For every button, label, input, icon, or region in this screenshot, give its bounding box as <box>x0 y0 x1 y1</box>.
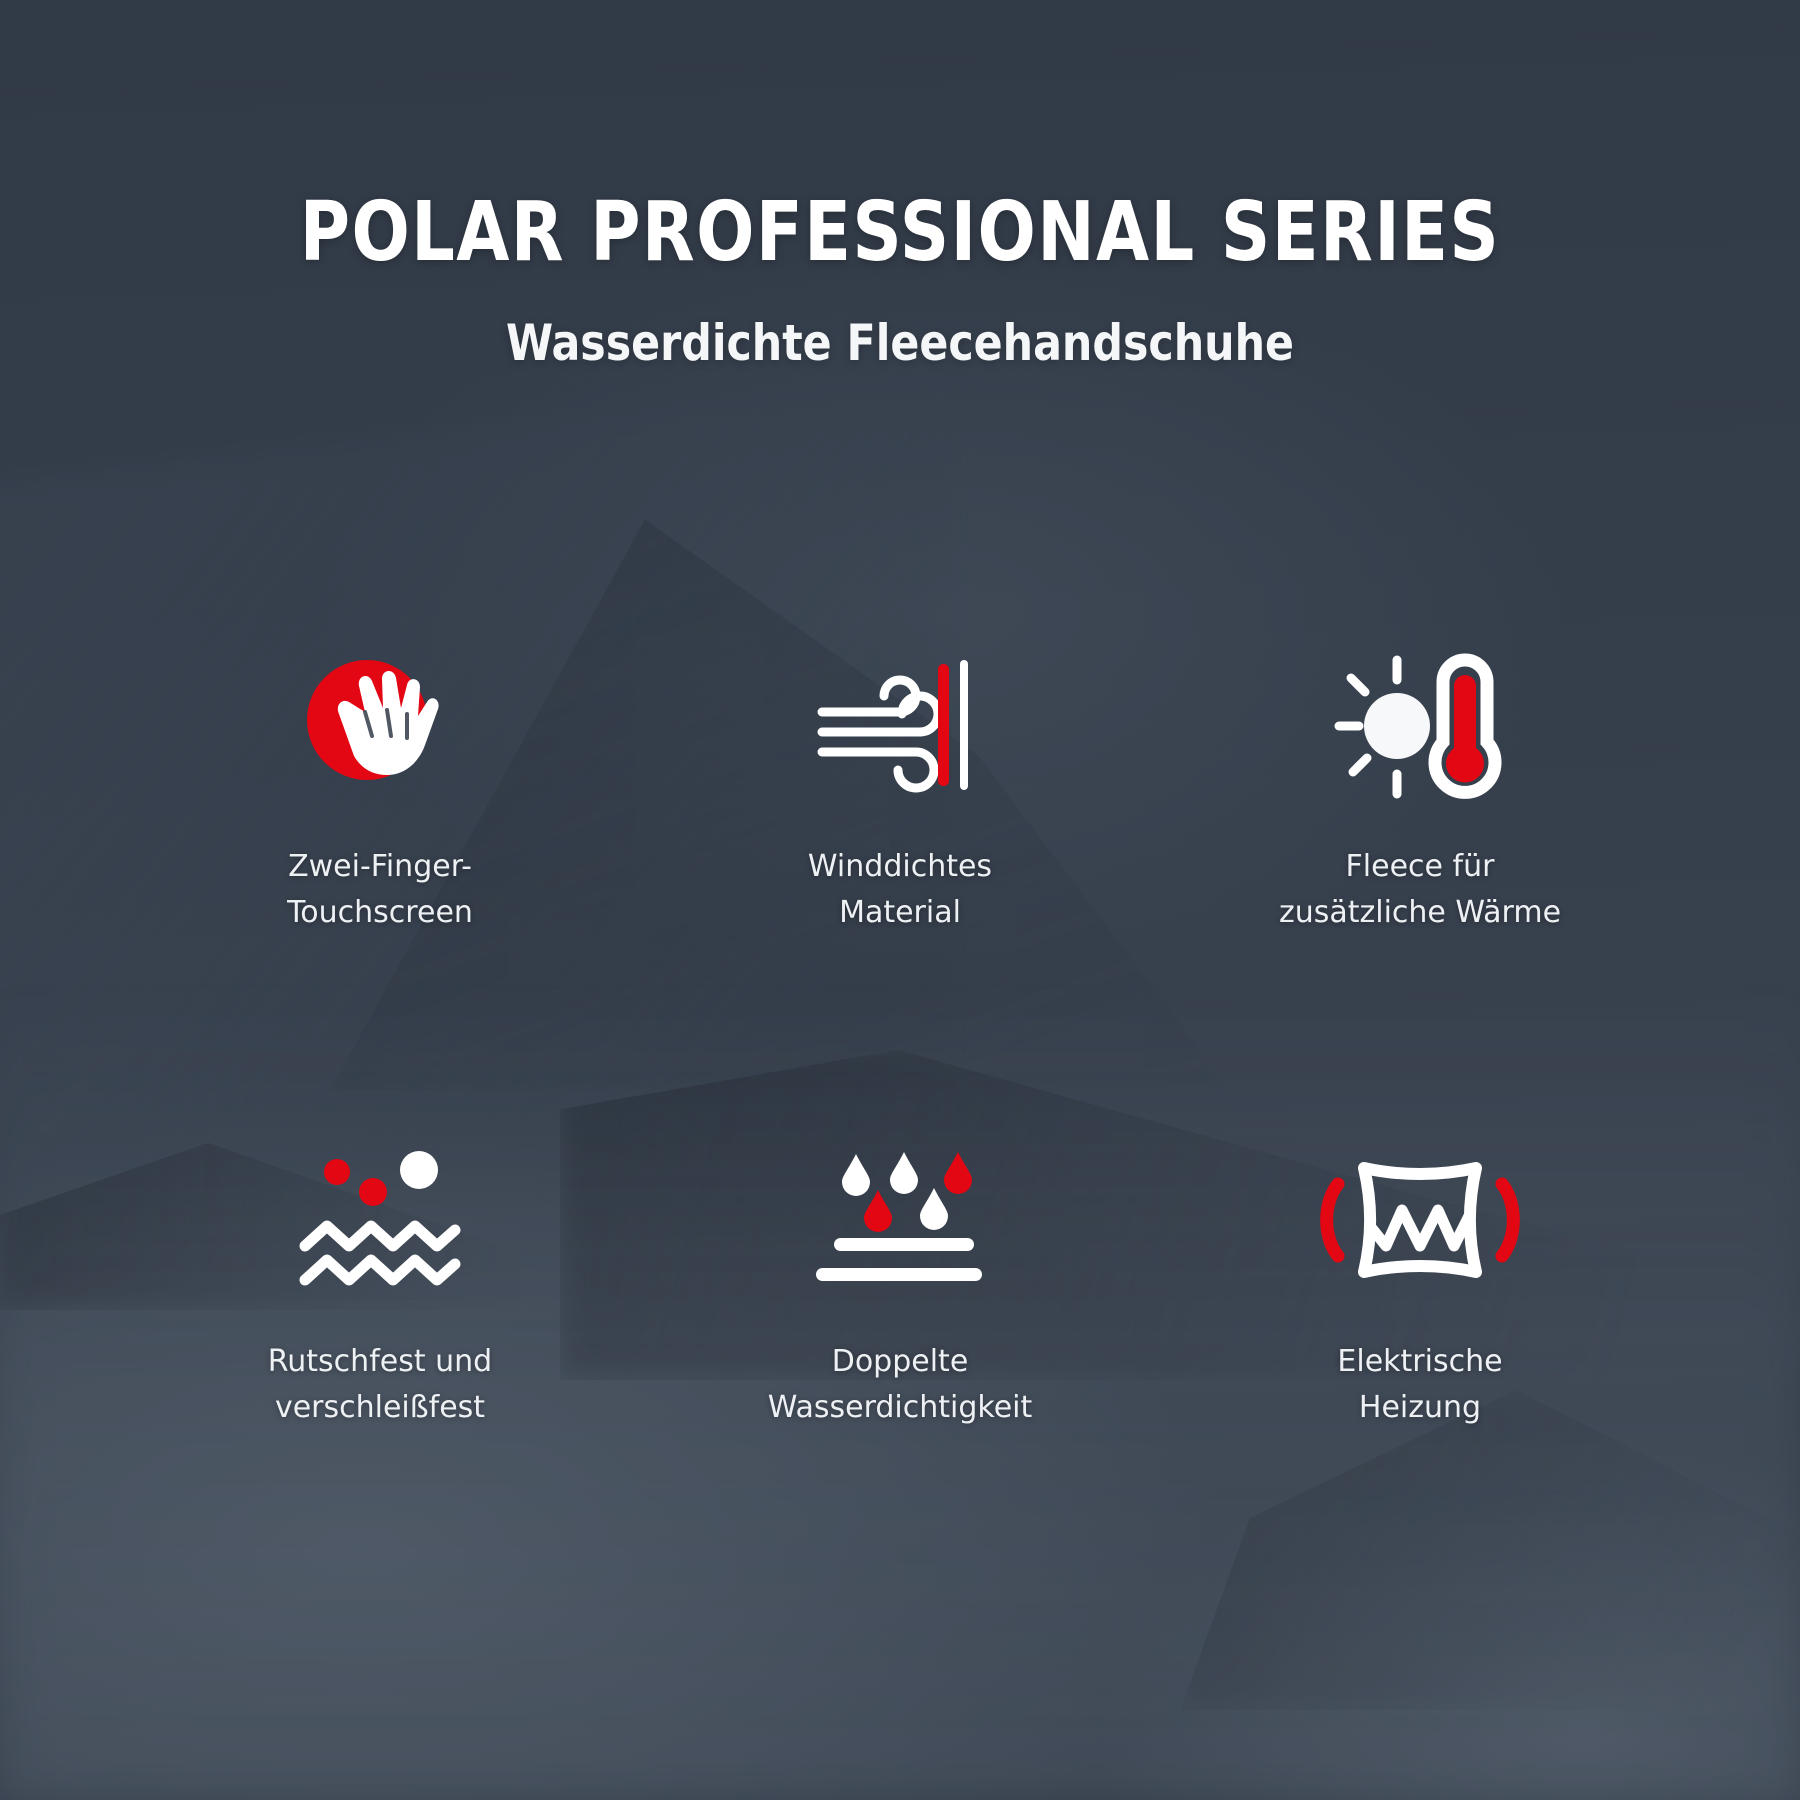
hand-touchscreen-icon <box>285 640 475 810</box>
anti-slip-zigzag-icon <box>285 1135 475 1305</box>
sun-thermometer-icon <box>1325 640 1515 810</box>
feature-item-electric-heating: Elektrische Heizung <box>1160 1135 1680 1430</box>
promo-banner: POLAR PROFESSIONAL SERIES Wasserdichte F… <box>0 0 1800 1800</box>
page-title: POLAR PROFESSIONAL SERIES <box>63 0 1737 274</box>
feature-label: Zwei-Finger- Touchscreen <box>215 844 545 935</box>
feature-label: Rutschfest und verschleißfest <box>215 1339 545 1430</box>
feature-grid: Zwei-Finger- Touchscreen Winddichtes Mat… <box>120 640 1680 1430</box>
electric-heating-icon <box>1325 1135 1515 1305</box>
feature-item-touchscreen: Zwei-Finger- Touchscreen <box>120 640 640 935</box>
page-subtitle: Wasserdichte Fleecehandschuhe <box>45 274 1755 368</box>
feature-item-waterproof: Doppelte Wasserdichtigkeit <box>640 1135 1160 1430</box>
feature-item-anti-slip: Rutschfest und verschleißfest <box>120 1135 640 1430</box>
feature-label: Elektrische Heizung <box>1255 1339 1585 1430</box>
feature-label: Doppelte Wasserdichtigkeit <box>735 1339 1065 1430</box>
feature-item-fleece-warmth: Fleece für zusätzliche Wärme <box>1160 640 1680 935</box>
feature-item-windproof: Winddichtes Material <box>640 640 1160 935</box>
water-droplets-icon <box>805 1135 995 1305</box>
wind-barrier-icon <box>805 640 995 810</box>
banner-header: POLAR PROFESSIONAL SERIES Wasserdichte F… <box>0 0 1800 368</box>
feature-label: Winddichtes Material <box>735 844 1065 935</box>
feature-label: Fleece für zusätzliche Wärme <box>1255 844 1585 935</box>
